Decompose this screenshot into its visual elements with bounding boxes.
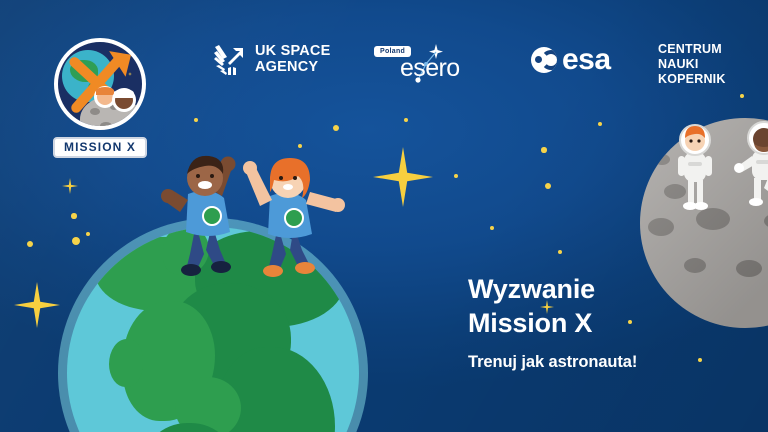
uk-space-agency-logo[interactable]: UK SPACE AGENCY bbox=[214, 44, 330, 76]
star-dot bbox=[194, 118, 198, 122]
star-dot bbox=[490, 226, 495, 231]
kopernik-line-3: KOPERNIK bbox=[658, 72, 726, 87]
uksa-line-1: UK SPACE bbox=[255, 44, 330, 60]
mission-x-badge-icon bbox=[54, 38, 146, 130]
landmass-britain bbox=[109, 339, 143, 387]
star-dot bbox=[404, 118, 408, 122]
esa-logo[interactable]: esa bbox=[531, 45, 611, 75]
star-dot bbox=[454, 174, 458, 178]
partner-logo-row: MISSION X UK SPACE AGENCY bbox=[0, 0, 768, 104]
kopernik-logo[interactable]: CENTRUM NAUKI KOPERNIK bbox=[658, 42, 726, 86]
star-dot bbox=[545, 183, 552, 190]
children-jumping-illustration bbox=[160, 150, 350, 280]
kopernik-wordmark: CENTRUM NAUKI KOPERNIK bbox=[658, 42, 726, 86]
badge-arrow-x-icon bbox=[58, 42, 142, 126]
star-sparkle bbox=[373, 147, 433, 207]
uk-space-agency-wordmark: UK SPACE AGENCY bbox=[255, 44, 330, 75]
astronaut-right bbox=[734, 122, 768, 206]
star-dot bbox=[598, 122, 602, 126]
headline-line-2: Mission X bbox=[468, 306, 595, 340]
child-left bbox=[161, 156, 236, 276]
star-dot bbox=[698, 358, 702, 362]
badge-kid-b-icon bbox=[112, 88, 136, 112]
astronaut-kids-illustration bbox=[640, 118, 768, 328]
esero-wordmark: esero bbox=[400, 56, 460, 81]
star-sparkle bbox=[62, 178, 78, 194]
mission-x-wordmark: MISSION X bbox=[53, 137, 147, 158]
star-dot bbox=[27, 241, 33, 247]
astronaut-left bbox=[678, 125, 712, 210]
kopernik-line-2: NAUKI bbox=[658, 57, 726, 72]
headline-line-1: Wyzwanie bbox=[468, 272, 595, 306]
child-right bbox=[243, 158, 345, 277]
kopernik-line-1: CENTRUM bbox=[658, 42, 726, 57]
star-dot bbox=[541, 147, 546, 152]
star-dot bbox=[628, 320, 633, 325]
esa-wordmark: esa bbox=[562, 45, 611, 75]
esero-logo[interactable]: Poland esero bbox=[374, 40, 480, 86]
star-dot bbox=[298, 144, 302, 148]
page-title: Wyzwanie Mission X bbox=[468, 272, 595, 341]
uk-space-agency-arrow-icon bbox=[214, 44, 248, 76]
uksa-line-2: AGENCY bbox=[255, 60, 330, 76]
poster-canvas: MISSION X UK SPACE AGENCY bbox=[0, 0, 768, 432]
esa-emblem-icon bbox=[531, 47, 557, 73]
mission-x-logo[interactable]: MISSION X bbox=[44, 38, 156, 158]
star-dot bbox=[333, 125, 339, 131]
page-subtitle: Trenuj jak astronauta! bbox=[468, 353, 637, 372]
star-dot bbox=[558, 250, 562, 254]
moon-illustration bbox=[640, 118, 768, 328]
star-sparkle bbox=[14, 282, 60, 328]
